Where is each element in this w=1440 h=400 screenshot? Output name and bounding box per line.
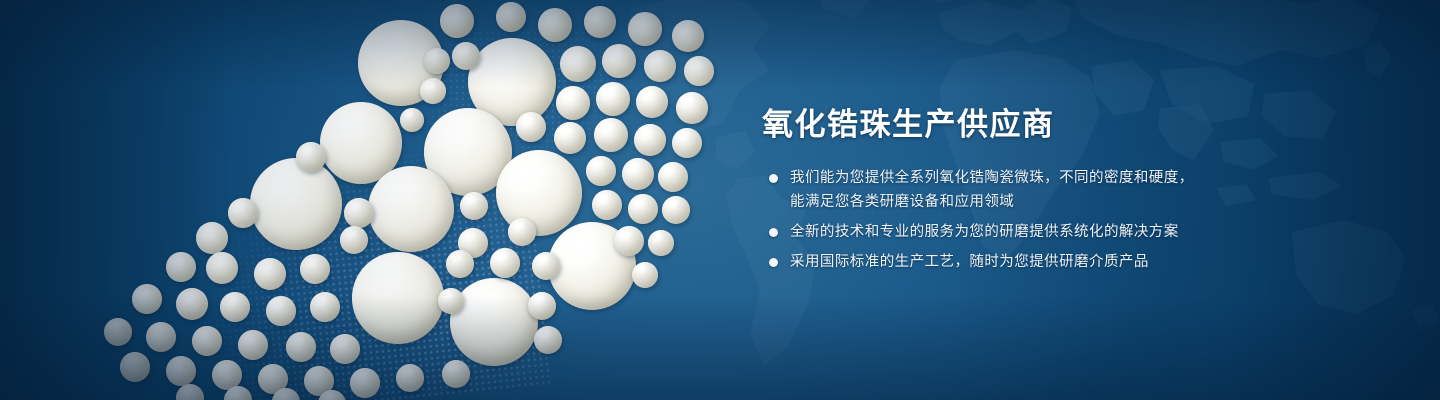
bullet-dot-icon [769, 258, 778, 267]
hero-banner: 氧化锆珠生产供应商 我们能为您提供全系列氧化锆陶瓷微珠，不同的密度和硬度， 能满… [0, 0, 1440, 400]
page-title: 氧化锆珠生产供应商 [762, 104, 1282, 146]
feature-list: 我们能为您提供全系列氧化锆陶瓷微珠，不同的密度和硬度， 能满足您各类研磨设备和应… [762, 166, 1282, 274]
list-item: 我们能为您提供全系列氧化锆陶瓷微珠，不同的密度和硬度， 能满足您各类研磨设备和应… [762, 166, 1282, 214]
list-item-line: 采用国际标准的生产工艺，随时为您提供研磨介质产品 [790, 250, 1282, 274]
list-item-line: 能满足您各类研磨设备和应用领域 [790, 190, 1282, 214]
list-item: 全新的技术和专业的服务为您的研磨提供系统化的解决方案 [762, 220, 1282, 244]
list-item: 采用国际标准的生产工艺，随时为您提供研磨介质产品 [762, 250, 1282, 274]
list-item-line: 我们能为您提供全系列氧化锆陶瓷微珠，不同的密度和硬度， [790, 166, 1282, 190]
banner-copy: 氧化锆珠生产供应商 我们能为您提供全系列氧化锆陶瓷微珠，不同的密度和硬度， 能满… [762, 104, 1282, 274]
list-item-line: 全新的技术和专业的服务为您的研磨提供系统化的解决方案 [790, 220, 1282, 244]
bullet-dot-icon [769, 174, 778, 183]
bullet-dot-icon [769, 228, 778, 237]
